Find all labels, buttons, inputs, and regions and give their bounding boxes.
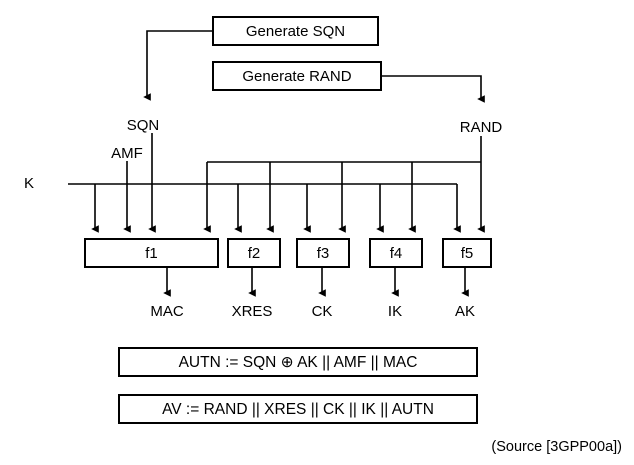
generate-rand-box[interactable]: Generate RAND bbox=[213, 62, 381, 90]
authentication-vector-diagram: Generate SQN Generate RAND SQN AMF K RAN… bbox=[0, 0, 634, 465]
signal-label-amf: AMF bbox=[111, 145, 143, 162]
output-label-ak: AK bbox=[455, 303, 475, 320]
generate-sqn-box[interactable]: Generate SQN bbox=[213, 17, 378, 45]
generate-rand-label: Generate RAND bbox=[242, 68, 351, 85]
function-label-f3: f3 bbox=[317, 245, 330, 262]
function-box-f1[interactable]: f1 bbox=[85, 239, 218, 267]
function-box-f3[interactable]: f3 bbox=[297, 239, 349, 267]
output-label-ck: CK bbox=[312, 303, 333, 320]
function-label-f2: f2 bbox=[248, 245, 261, 262]
function-box-f5[interactable]: f5 bbox=[443, 239, 491, 267]
wire-genrand-to-rand bbox=[381, 76, 481, 99]
output-label-mac: MAC bbox=[150, 303, 184, 320]
formula-box-av[interactable]: AV := RAND || XRES || CK || IK || AUTN bbox=[119, 395, 477, 423]
wire-gensqn-to-sqn bbox=[147, 31, 213, 97]
signal-label-k: K bbox=[24, 175, 34, 192]
formula-label-autn: AUTN := SQN ⊕ AK || AMF || MAC bbox=[179, 354, 418, 371]
output-label-xres: XRES bbox=[232, 303, 273, 320]
generate-sqn-label: Generate SQN bbox=[246, 23, 345, 40]
source-attribution: (Source [3GPP00a]) bbox=[491, 439, 622, 455]
function-label-f1: f1 bbox=[145, 245, 158, 262]
function-box-f2[interactable]: f2 bbox=[228, 239, 280, 267]
function-label-f4: f4 bbox=[390, 245, 403, 262]
diagram-canvas: Generate SQN Generate RAND SQN AMF K RAN… bbox=[0, 0, 634, 465]
formula-box-autn[interactable]: AUTN := SQN ⊕ AK || AMF || MAC bbox=[119, 348, 477, 376]
output-label-ik: IK bbox=[388, 303, 402, 320]
signal-label-rand: RAND bbox=[460, 119, 503, 136]
signal-label-sqn: SQN bbox=[127, 117, 160, 134]
function-label-f5: f5 bbox=[461, 245, 474, 262]
function-box-f4[interactable]: f4 bbox=[370, 239, 422, 267]
formula-label-av: AV := RAND || XRES || CK || IK || AUTN bbox=[162, 401, 434, 418]
